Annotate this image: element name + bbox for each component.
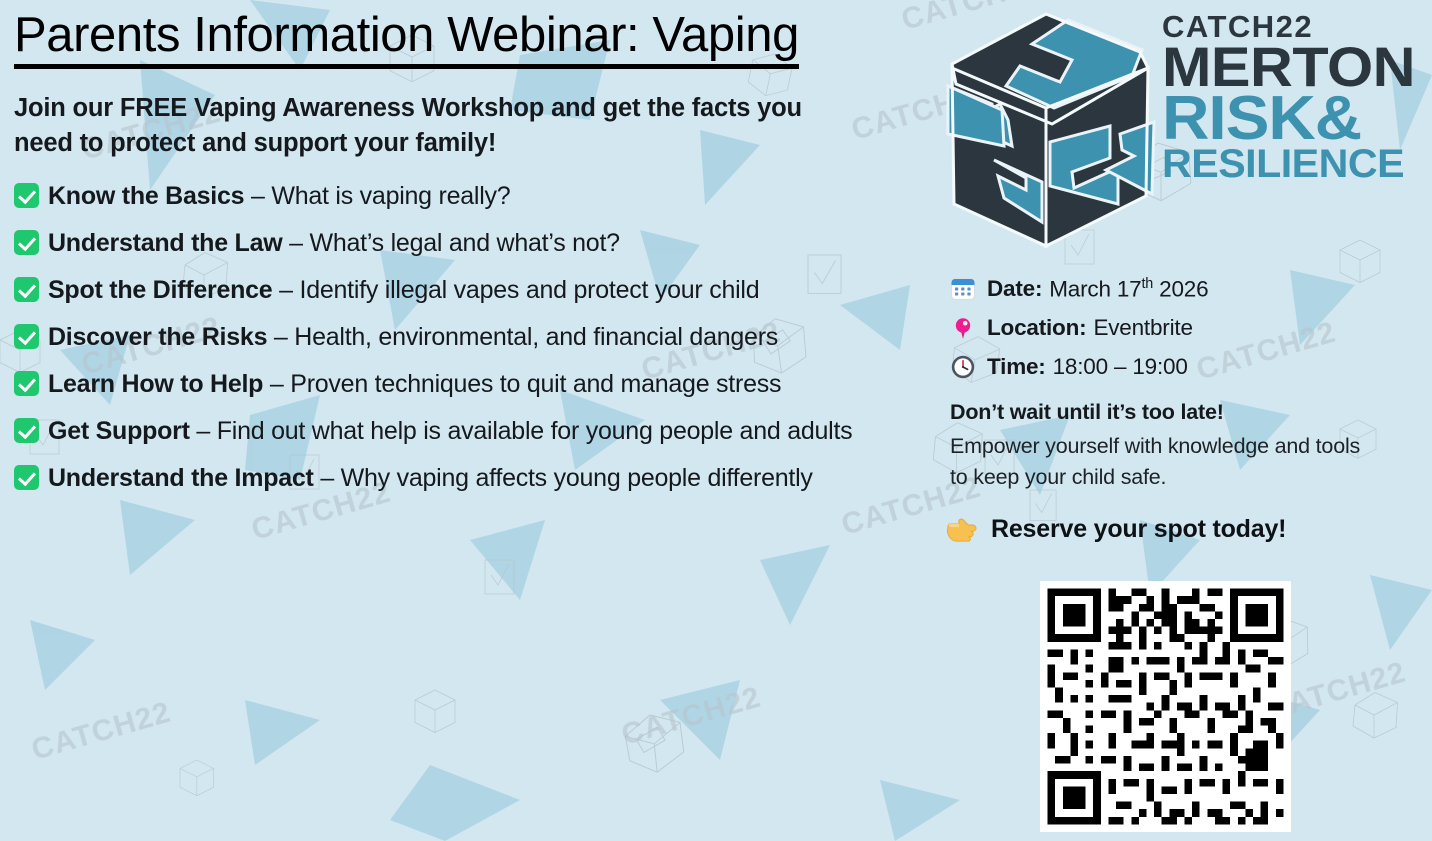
check-box-icon (14, 465, 39, 490)
list-item: Discover the Risks – Health, environment… (14, 320, 919, 354)
check-box-icon (14, 371, 39, 396)
event-details-list: Date: March 17th 2026 Location: Eventbri… (950, 276, 1420, 393)
list-item: Get Support – Find out what help is avai… (14, 414, 919, 448)
cta-headline: Don’t wait until it’s too late! (950, 400, 1370, 425)
reserve-text: Reserve your spot today! (991, 515, 1286, 544)
list-item-title: Know the Basics (48, 182, 244, 210)
list-item-title: Learn How to Help (48, 370, 263, 398)
list-item: Spot the Difference – Identify illegal v… (14, 273, 919, 307)
right-content-column: CATCH22 MERTON RISK& RESILIENCE (930, 0, 1432, 841)
list-item-title: Discover the Risks (48, 323, 267, 351)
list-item-desc: – What’s legal and what’s not? (289, 229, 620, 257)
catch22-logo: CATCH22 MERTON RISK& RESILIENCE (930, 6, 1432, 256)
detail-label-time: Time: (987, 356, 1046, 379)
detail-row-date: Date: March 17th 2026 (950, 276, 1420, 302)
check-box-icon (14, 230, 39, 255)
detail-row-time: Time: 18:00 – 19:00 (950, 354, 1420, 380)
list-item-desc: – Identify illegal vapes and protect you… (279, 276, 759, 304)
calendar-icon (950, 276, 976, 302)
list-item: Learn How to Help – Proven techniques to… (14, 367, 919, 401)
intro-paragraph: Join our FREE Vaping Awareness Workshop … (14, 91, 844, 161)
detail-label-location: Location: (987, 317, 1086, 340)
benefits-list: Know the Basics – What is vaping really?… (14, 179, 919, 495)
list-item-title: Get Support (48, 417, 190, 445)
check-box-icon (14, 418, 39, 443)
detail-value-time: 18:00 – 19:00 (1053, 356, 1188, 379)
detail-value-date: March 17th 2026 (1049, 277, 1208, 301)
location-pin-icon (950, 315, 976, 341)
qr-code-card[interactable] (1040, 581, 1291, 832)
logo-line-risk: RISK& (1162, 92, 1432, 145)
left-content-column: Parents Information Webinar: Vaping Join… (14, 10, 919, 508)
cta-body: Empower yourself with knowledge and tool… (950, 431, 1370, 492)
svg-text:CATCH22: CATCH22 (618, 681, 765, 752)
detail-row-location: Location: Eventbrite (950, 315, 1420, 341)
check-box-icon (14, 324, 39, 349)
cube-logo-icon (934, 8, 1164, 256)
list-item: Understand the Impact – Why vaping affec… (14, 461, 919, 495)
list-item: Know the Basics – What is vaping really? (14, 179, 919, 213)
list-item-desc: – Proven techniques to quit and manage s… (270, 370, 781, 398)
qr-code-image[interactable] (1040, 581, 1291, 832)
list-item: Understand the Law – What’s legal and wh… (14, 226, 919, 260)
list-item-title: Understand the Impact (48, 464, 314, 492)
list-item-desc: – Why vaping affects young people differ… (320, 464, 812, 492)
pointing-right-hand-icon (946, 517, 978, 543)
list-item-title: Understand the Law (48, 229, 282, 257)
list-item-title: Spot the Difference (48, 276, 272, 304)
detail-value-location: Eventbrite (1093, 317, 1192, 340)
list-item-desc: – Find out what help is available for yo… (196, 417, 852, 445)
clock-icon (950, 354, 976, 380)
detail-label-date: Date: (987, 278, 1042, 301)
svg-text:CATCH22: CATCH22 (28, 696, 175, 767)
check-box-icon (14, 277, 39, 302)
page-title: Parents Information Webinar: Vaping (14, 10, 799, 69)
reserve-callout: Reserve your spot today! (946, 515, 1286, 544)
cta-text-block: Don’t wait until it’s too late! Empower … (950, 400, 1370, 492)
logo-wordmark: CATCH22 MERTON RISK& RESILIENCE (1162, 14, 1432, 182)
logo-line-resilience: RESILIENCE (1162, 147, 1432, 181)
list-item-desc: – Health, environmental, and financial d… (274, 323, 778, 351)
list-item-desc: – What is vaping really? (251, 182, 510, 210)
check-box-icon (14, 183, 39, 208)
poster-canvas: CATCH22 CATCH22 CATCH22 CATCH22 CATCH22 … (0, 0, 1432, 841)
